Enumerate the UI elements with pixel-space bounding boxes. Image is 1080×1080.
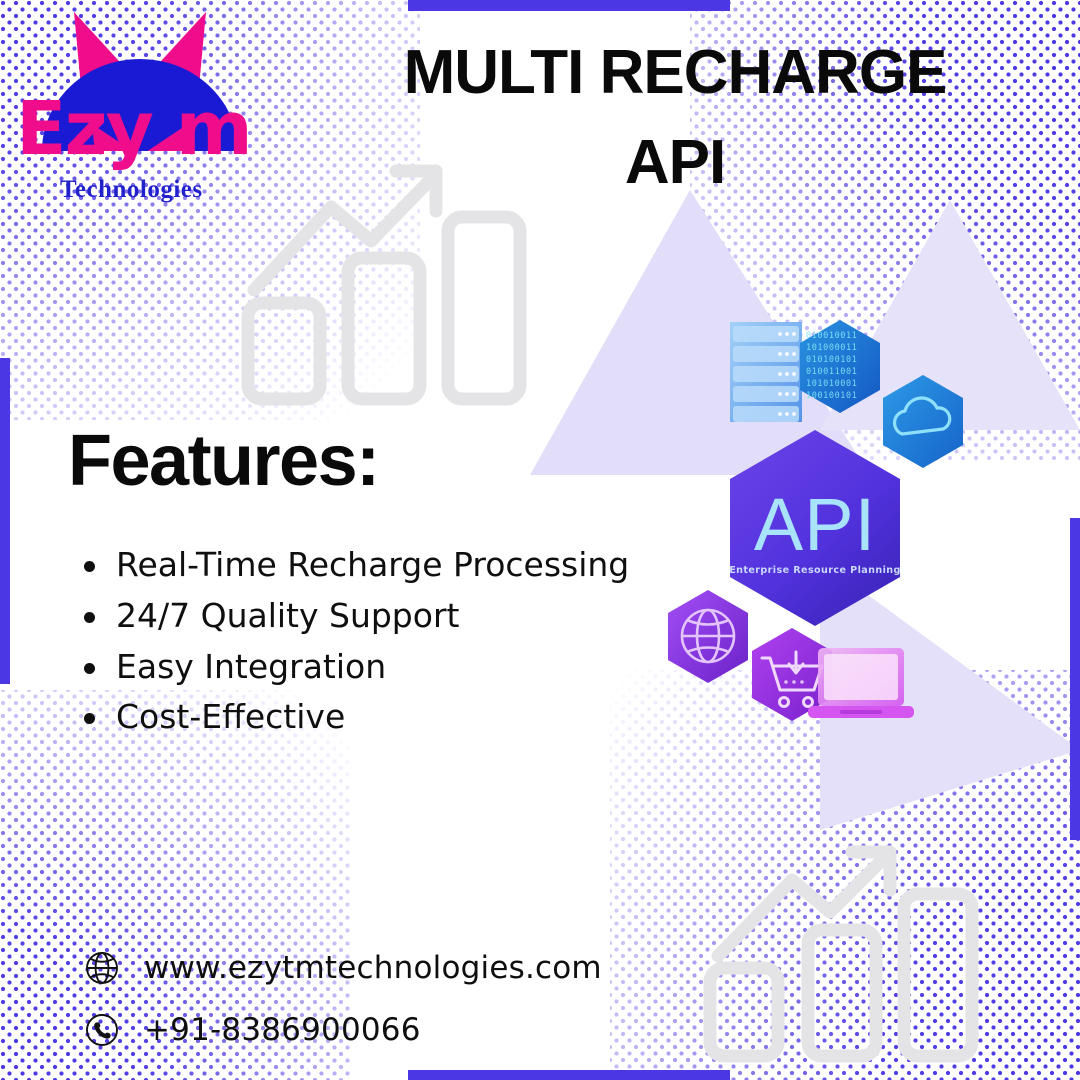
features-heading: Features: <box>68 420 379 502</box>
svg-text:010100101: 010100101 <box>806 355 857 365</box>
accent-bar-right <box>1070 518 1080 840</box>
svg-text:101010001: 101010001 <box>806 379 857 389</box>
brand-wordmark: Ezy m <box>16 92 266 166</box>
phone-text: +91-8386900066 <box>144 1012 421 1048</box>
cloud-hexagon <box>883 375 963 468</box>
features-list: Real-Time Recharge Processing 24/7 Quali… <box>70 540 690 743</box>
server-rack-hexagon <box>730 322 802 422</box>
phone-icon <box>82 1010 122 1050</box>
headline-line-1: MULTI RECHARGE <box>404 38 947 107</box>
accent-bar-bottom <box>408 1070 730 1080</box>
svg-text:010011001: 010011001 <box>806 367 857 377</box>
svg-text:010010011: 010010011 <box>806 331 857 341</box>
list-item: Easy Integration <box>70 642 690 693</box>
brand-tagline: Technologies <box>60 176 203 204</box>
accent-bar-top <box>408 0 730 11</box>
list-item: Cost-Effective <box>70 692 690 743</box>
api-center-sublabel: Enterprise Resource Planning <box>729 565 901 576</box>
globe-hexagon <box>668 590 748 683</box>
list-item: 24/7 Quality Support <box>70 591 690 642</box>
api-center-label: API <box>754 483 876 566</box>
contact-phone-row[interactable]: +91-8386900066 <box>82 1010 421 1050</box>
headline-line-2: API <box>395 118 955 208</box>
api-hexagon-illustration: 010010011 101000011 010100101 010011001 … <box>600 280 1020 780</box>
svg-text:100100101: 100100101 <box>806 391 857 401</box>
accent-bar-left <box>0 358 10 684</box>
growth-chart-icon-bottom <box>700 838 1010 1080</box>
contact-website-row[interactable]: www.ezytmtechnologies.com <box>82 948 602 988</box>
binary-code-hexagon: 010010011 101000011 010100101 010011001 … <box>800 320 880 413</box>
svg-text:101000011: 101000011 <box>806 343 857 353</box>
page-title: MULTI RECHARGE API <box>395 28 955 208</box>
poster-canvas: Ezy m Technologies MULTI RECHARGE API Fe… <box>0 0 1080 1080</box>
laptop-icon <box>808 648 914 718</box>
globe-icon <box>82 948 122 988</box>
brand-logo: Ezy m Technologies <box>8 6 278 216</box>
website-text: www.ezytmtechnologies.com <box>144 950 602 986</box>
api-center-hexagon: API Enterprise Resource Planning <box>729 430 901 626</box>
list-item: Real-Time Recharge Processing <box>70 540 690 591</box>
